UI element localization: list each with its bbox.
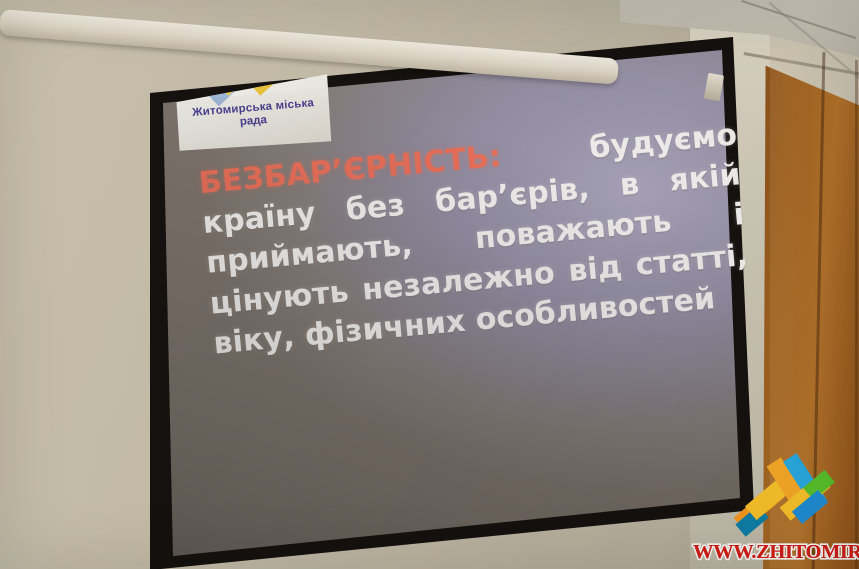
- logo-text-line2: рада: [240, 114, 268, 128]
- slide-text-block: БЕЗБАР’ЄРНІСТЬ: будуємо країну без бар’є…: [197, 115, 753, 364]
- zhitomir-info-logo-icon: [731, 469, 841, 531]
- watermark-url: WWW.ZHITOMIR.INFO: [693, 541, 858, 564]
- presentation-photo: Житомирська міська рада БЕЗБАР’ЄРНІСТЬ: …: [0, 0, 859, 569]
- site-watermark: WWW.ZHITOMIR.INFO WWW.ZHITOMIR.INFO: [701, 469, 851, 565]
- wood-panel-seam: [855, 60, 858, 569]
